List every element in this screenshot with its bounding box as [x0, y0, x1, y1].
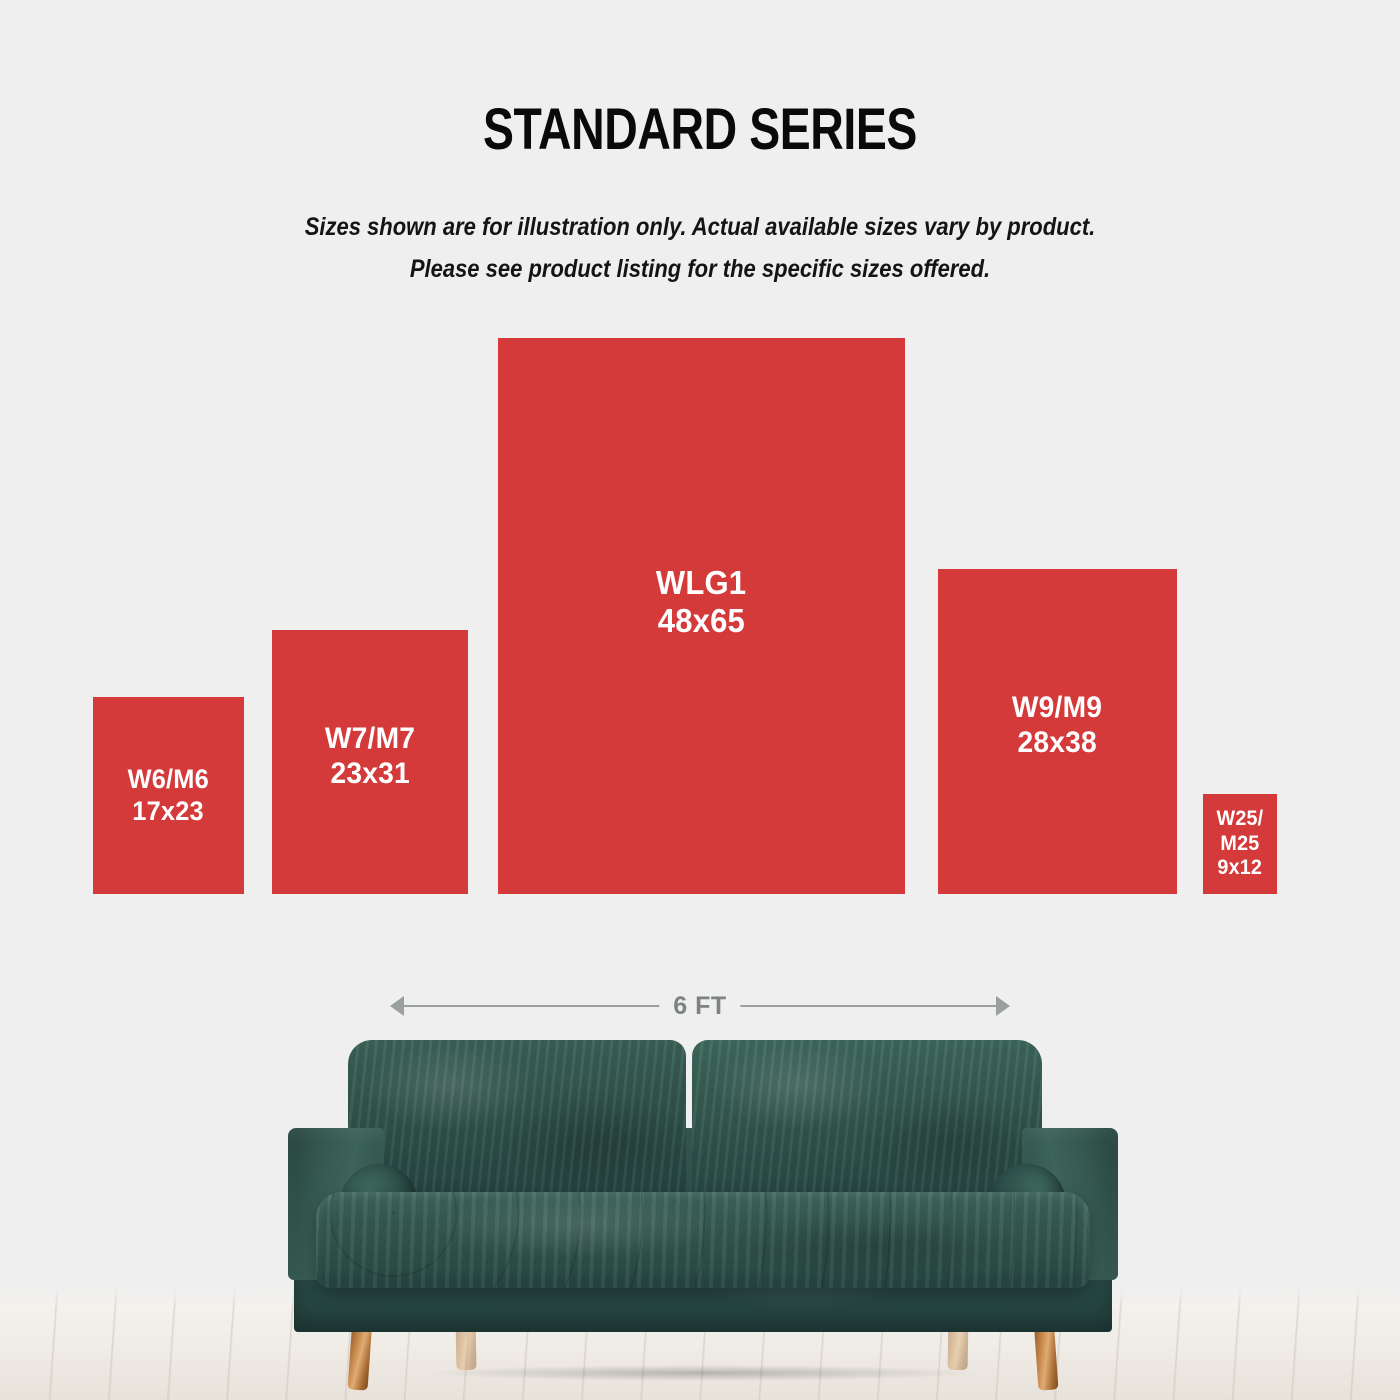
sofa-seat-cushion	[316, 1192, 1090, 1288]
size-swatch-w25-m25[interactable]: W25/ M25 9x12	[1203, 794, 1277, 894]
sofa-back-cushion	[692, 1040, 1042, 1204]
size-dimensions-label: 48x65	[658, 602, 745, 640]
size-dimensions-label: 17x23	[133, 796, 205, 827]
size-dimensions-label: 9x12	[1218, 856, 1263, 880]
size-swatch-w7-m7[interactable]: W7/M7 23x31	[272, 630, 468, 894]
size-dimensions-label: 28x38	[1018, 726, 1097, 761]
dimension-label: 6 FT	[659, 988, 740, 1024]
size-swatch-w6-m6[interactable]: W6/M6 17x23	[93, 697, 244, 894]
sofa-shadow	[318, 1362, 1088, 1384]
arrow-right-icon	[996, 996, 1010, 1016]
sofa-image	[288, 1032, 1118, 1362]
size-code-label: WLG1	[656, 564, 746, 602]
size-swatch-wlg1[interactable]: WLG1 48x65	[498, 338, 905, 894]
size-dimensions-label: 23x31	[330, 757, 409, 792]
size-swatch-w9-m9[interactable]: W9/M9 28x38	[938, 569, 1177, 894]
size-code-label: W9/M9	[1012, 691, 1102, 726]
size-code-label: W7/M7	[325, 722, 415, 757]
size-chart-poster: STANDARD SERIES Sizes shown are for illu…	[0, 0, 1400, 1400]
dimension-indicator: 6 FT	[390, 988, 1010, 1024]
size-code-label: W25/ M25	[1217, 807, 1264, 856]
size-code-label: W6/M6	[128, 764, 209, 795]
